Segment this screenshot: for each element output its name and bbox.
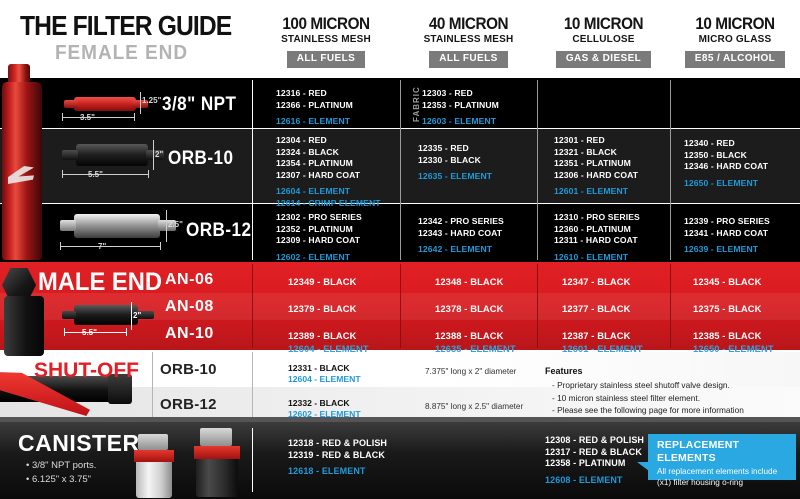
shutoff-pn-orb10: 12331 - BLACK	[288, 363, 350, 373]
part-list-orb12-10micron-microglass: 12339 - PRO SERIES 12341 - HARD COAT 126…	[684, 216, 770, 256]
male-pn: 12385 - BLACK	[693, 330, 762, 341]
canister-part-list-100micron: 12318 - RED & POLISH 12319 - RED & BLACK…	[288, 438, 387, 478]
shutoff-dim-orb12: 8.875" long x 2.5" diameter	[425, 402, 523, 411]
product-name-orb10: ORB-10	[168, 148, 233, 170]
features-heading: Features	[545, 366, 583, 376]
part-list-orb10-40micron: 12335 - RED 12330 - BLACK 12635 - ELEMEN…	[418, 143, 492, 183]
column-divider	[670, 80, 671, 260]
shutoff-dim-orb10: 7.375" long x 2" diameter	[425, 367, 516, 376]
column-divider	[252, 428, 253, 492]
column-divider	[537, 80, 538, 260]
product-name-orb12: ORB-12	[186, 220, 251, 242]
callout-body: All replacement elements include (x1) fi…	[657, 467, 789, 488]
dim-length-orb10: 5.5"	[88, 170, 103, 179]
feature-item: - Please see the following page for more…	[552, 404, 744, 417]
page-title: THE FILTER GUIDE	[20, 10, 231, 42]
column-header-100-micron: 100 MICRON STAINLESS MESH ALL FUELS	[252, 14, 400, 68]
fuel-badge: ALL FUELS	[429, 51, 507, 68]
male-pn: 12345 - BLACK	[693, 276, 762, 287]
column-header-10-micron-cellulose: 10 MICRON CELLULOSE GAS & DIESEL	[537, 14, 670, 68]
canister-part-list-10micron: 12308 - RED & POLISH 12317 - RED & BLACK…	[545, 435, 644, 486]
part-list-orb12-100micron: 12302 - PRO SERIES 12352 - PLATINUM 1230…	[276, 212, 362, 263]
shutoff-pn-orb12: 12332 - BLACK	[288, 398, 350, 408]
fabric-label: FABRIC	[412, 86, 421, 122]
an-label-06: AN-06	[165, 271, 214, 289]
dim-height-orb12: 2.5"	[168, 220, 183, 229]
section-title-female-end: FEMALE END	[55, 42, 188, 65]
column-divider	[252, 352, 253, 422]
male-pn: 12347 - BLACK	[562, 276, 631, 287]
callout-heading: REPLACEMENT ELEMENTS	[657, 439, 789, 465]
male-pn: 12389 - BLACK	[288, 330, 357, 341]
male-pn: 12378 - BLACK	[435, 303, 504, 314]
canister-image-polish	[128, 434, 184, 496]
male-pn: 12349 - BLACK	[288, 276, 357, 287]
shutoff-element-orb10: 12604 - ELEMENT	[288, 374, 361, 384]
part-list-orb12-10micron-cellulose: 12310 - PRO SERIES 12360 - PLATINUM 1231…	[554, 212, 640, 263]
dim-height-orb10: 2"	[155, 150, 163, 159]
dim-height-npt: 1.25"	[142, 96, 161, 105]
canister-image-black	[188, 428, 248, 496]
part-list-orb10-10micron-microglass: 12340 - RED 12350 - BLACK 12346 - HARD C…	[684, 138, 768, 189]
column-divider	[670, 264, 671, 348]
column-header-40-micron: 40 MICRON STAINLESS MESH ALL FUELS	[400, 14, 537, 68]
column-divider	[252, 80, 253, 260]
dim-height-male: 2"	[133, 311, 141, 320]
column-divider	[152, 352, 153, 422]
feature-item: - Proprietary stainless steel shutoff va…	[552, 379, 744, 392]
column-divider	[400, 264, 401, 348]
column-divider	[252, 264, 253, 348]
shut-off-section: SHUT-OFF ORB-10 ORB-12 12331 - BLACK 126…	[0, 352, 800, 422]
feature-item: - 10 micron stainless steel filter eleme…	[552, 392, 744, 405]
fuel-badge: E85 / ALCOHOL	[685, 51, 785, 68]
an-label-08: AN-08	[165, 298, 214, 316]
filter-guide-page: THE FILTER GUIDE FEMALE END 100 MICRON S…	[0, 0, 800, 499]
filter-image-male	[62, 304, 162, 328]
fuel-badge: GAS & DIESEL	[556, 51, 651, 68]
male-pn: 12375 - BLACK	[693, 303, 762, 314]
shut-off-title: SHUT-OFF	[34, 359, 139, 383]
canister-bullet: • 6.125" x 3.75"	[26, 474, 91, 485]
page-header: THE FILTER GUIDE FEMALE END 100 MICRON S…	[0, 0, 800, 78]
canister-bullet: • 3/8" NPT ports.	[26, 460, 96, 471]
male-pn: 12379 - BLACK	[288, 303, 357, 314]
an-label-10: AN-10	[165, 325, 214, 343]
male-end-title: MALE END	[38, 268, 162, 297]
column-divider	[537, 264, 538, 348]
male-pn: 12348 - BLACK	[435, 276, 504, 287]
part-list-orb10-100micron: 12304 - RED 12324 - BLACK 12354 - PLATIN…	[276, 135, 381, 209]
dim-length-orb12: 7"	[98, 242, 106, 251]
replacement-elements-callout: REPLACEMENT ELEMENTS All replacement ele…	[648, 434, 796, 480]
part-list-orb10-10micron-cellulose: 12301 - RED 12321 - BLACK 12351 - PLATIN…	[554, 135, 638, 198]
column-header-10-micron-micro-glass: 10 MICRON MICRO GLASS E85 / ALCOHOL	[670, 14, 800, 68]
male-end-section: MALE END 5.5" 2" AN-06 AN-08 AN-10 12349…	[0, 262, 800, 350]
filter-image-npt	[62, 94, 152, 116]
part-list-npt-100micron: 12316 - RED 12366 - PLATINUM 12616 - ELE…	[276, 88, 353, 128]
part-list-npt-40micron: 12303 - RED 12353 - PLATINUM 12603 - ELE…	[422, 88, 499, 128]
fuel-badge: ALL FUELS	[287, 51, 365, 68]
dim-length-npt: 3.5"	[80, 113, 95, 122]
product-name-npt: 3/8" NPT	[162, 94, 236, 116]
canister-title: CANISTER	[18, 430, 140, 457]
female-end-section: 3.5" 1.25" 3/8" NPT 12316 - RED 12366 - …	[0, 78, 800, 262]
male-pn: 12377 - BLACK	[562, 303, 631, 314]
shutoff-name-orb10: ORB-10	[160, 361, 217, 378]
shutoff-name-orb12: ORB-12	[160, 396, 217, 413]
column-divider	[400, 80, 401, 260]
dim-length-male: 5.5"	[82, 328, 97, 337]
male-pn: 12388 - BLACK	[435, 330, 504, 341]
male-pn: 12387 - BLACK	[562, 330, 631, 341]
part-list-orb12-40micron: 12342 - PRO SERIES 12343 - HARD COAT 126…	[418, 216, 504, 256]
filter-image-orb12	[60, 212, 180, 244]
